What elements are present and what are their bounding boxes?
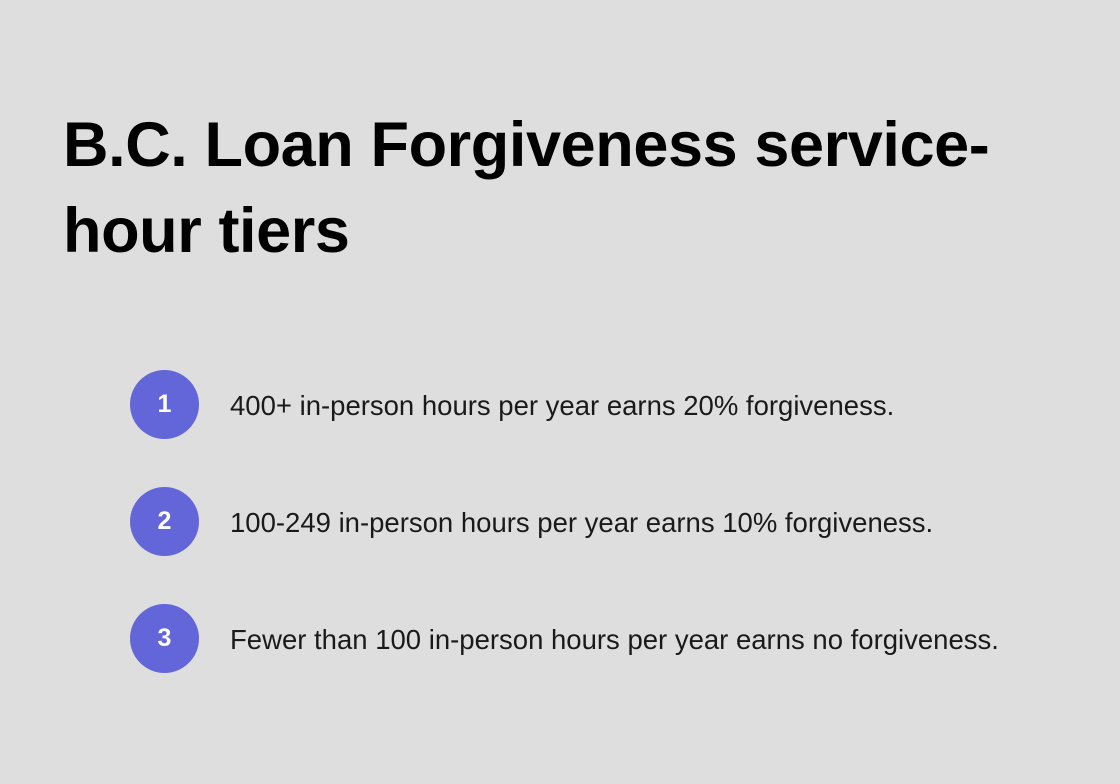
tier-number-badge: 1 xyxy=(130,370,199,439)
tier-list: 1 400+ in-person hours per year earns 20… xyxy=(130,370,1060,673)
tier-description: 100-249 in-person hours per year earns 1… xyxy=(230,487,1042,543)
list-item: 2 100-249 in-person hours per year earns… xyxy=(130,487,1060,556)
page-title: B.C. Loan Forgiveness service-hour tiers xyxy=(63,103,1023,274)
list-item: 1 400+ in-person hours per year earns 20… xyxy=(130,370,1060,439)
slide-canvas: B.C. Loan Forgiveness service-hour tiers… xyxy=(0,0,1120,784)
list-item: 3 Fewer than 100 in-person hours per yea… xyxy=(130,604,1060,673)
tier-number-badge: 3 xyxy=(130,604,199,673)
tier-number-badge: 2 xyxy=(130,487,199,556)
tier-description: Fewer than 100 in-person hours per year … xyxy=(230,604,1042,660)
tier-description: 400+ in-person hours per year earns 20% … xyxy=(230,370,1042,426)
